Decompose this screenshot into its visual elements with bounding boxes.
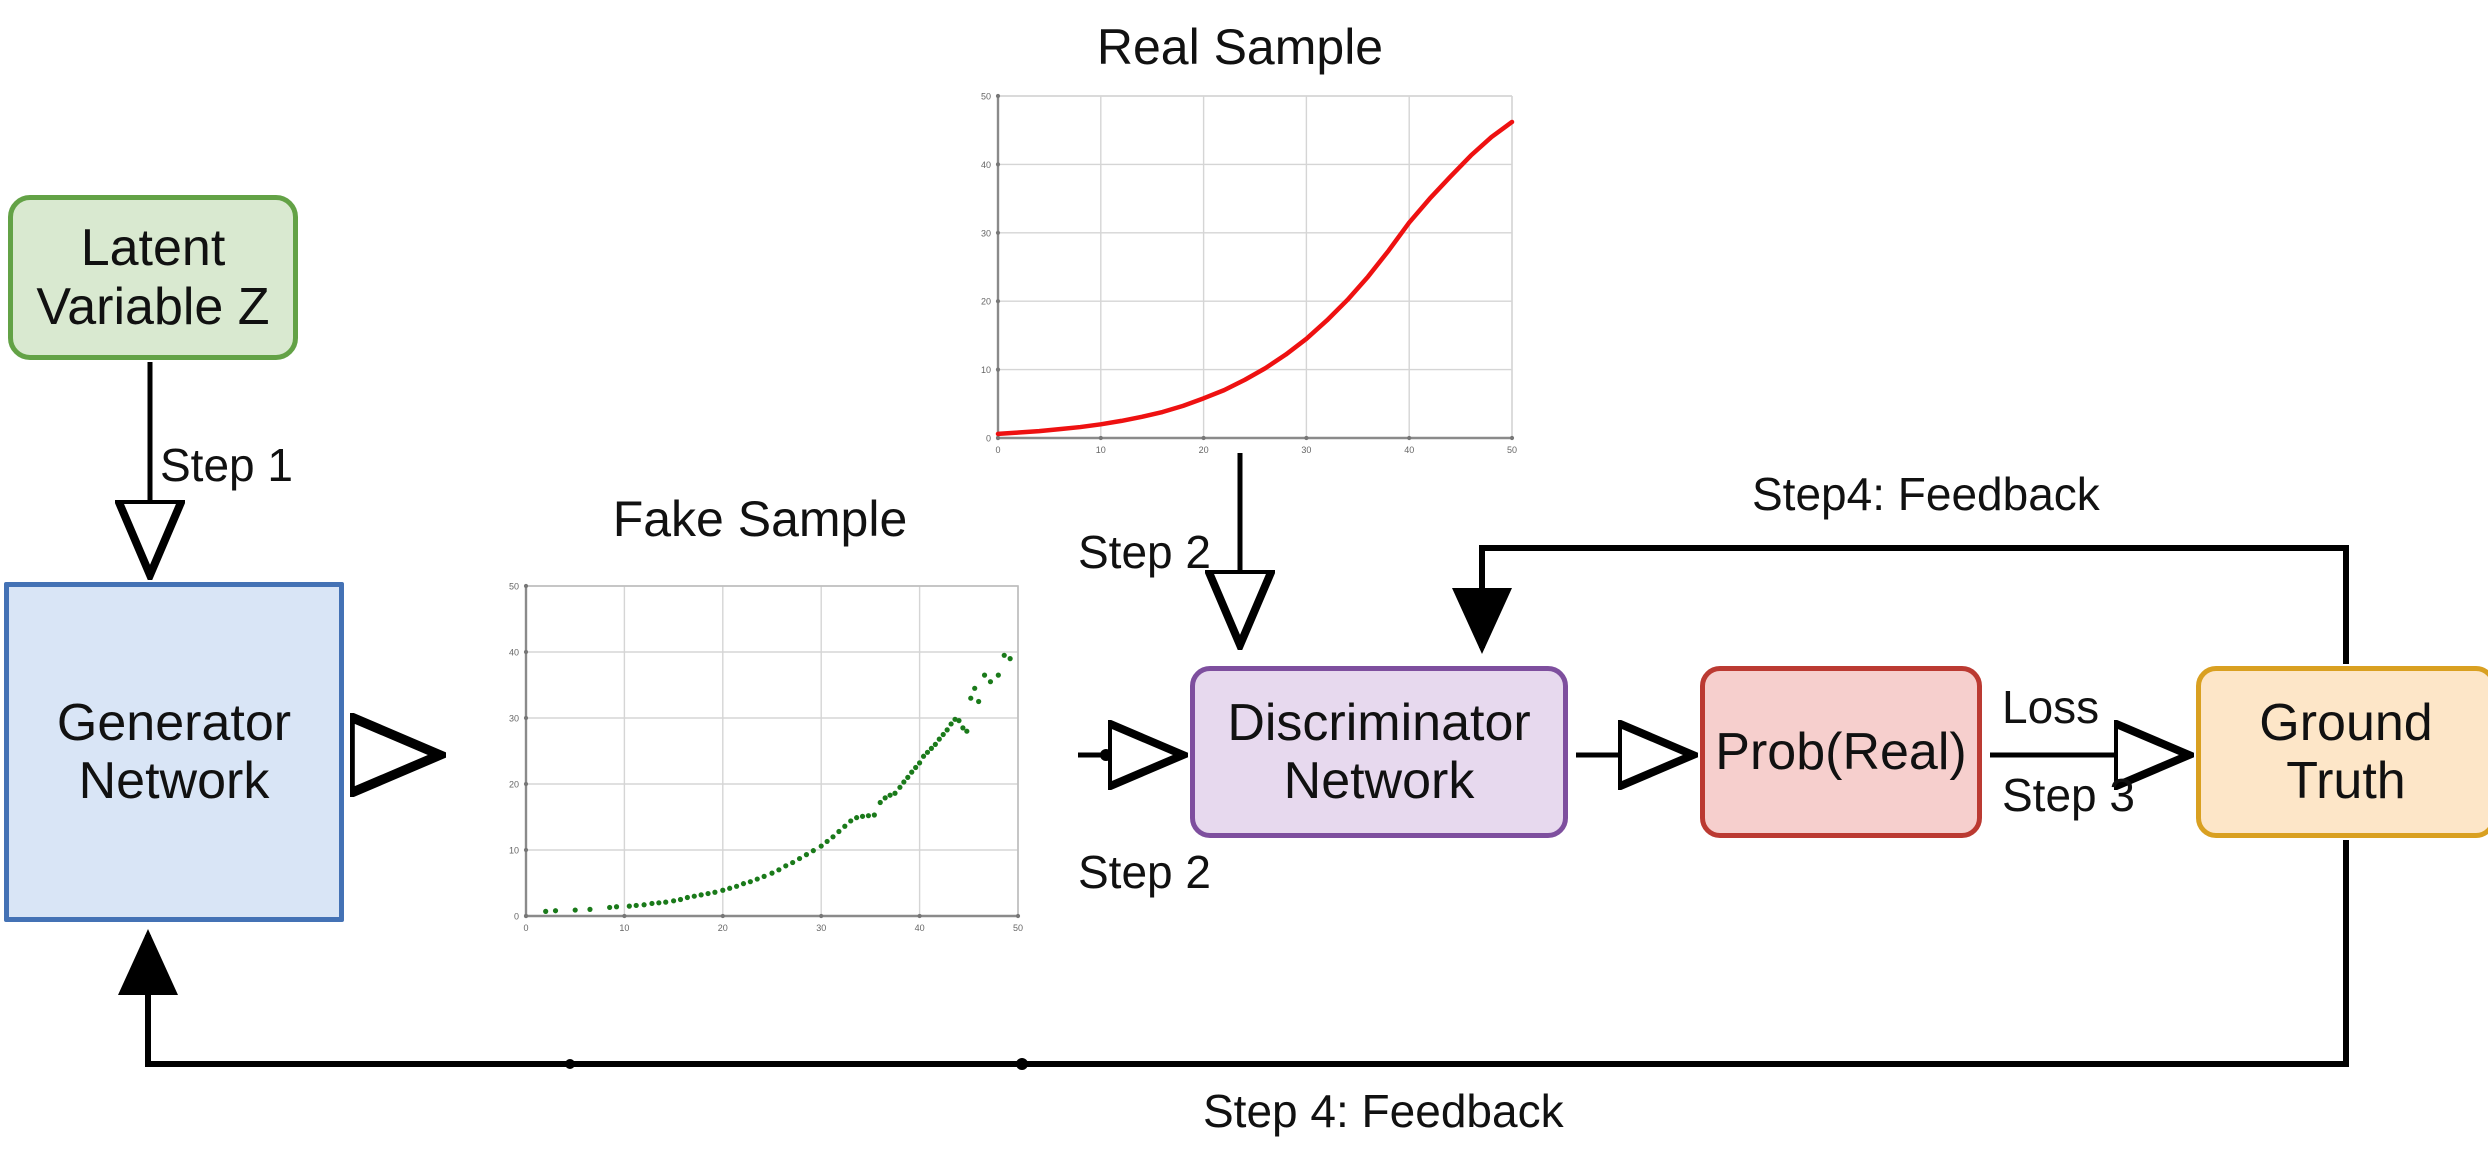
node-ground-truth-line1: Ground: [2259, 694, 2432, 752]
svg-text:10: 10: [509, 846, 519, 856]
svg-text:50: 50: [1507, 445, 1517, 455]
chart-real-sample: 0102030405001020304050: [968, 88, 1518, 468]
svg-text:50: 50: [1013, 923, 1023, 933]
node-prob-real[interactable]: Prob(Real): [1700, 666, 1982, 838]
svg-text:20: 20: [509, 780, 519, 790]
edge-label-step3: Step 3: [2002, 768, 2135, 822]
node-prob-label: Prob(Real): [1715, 723, 1966, 781]
svg-text:20: 20: [718, 923, 728, 933]
svg-text:30: 30: [509, 714, 519, 724]
edge-feedback-top: [1482, 548, 2346, 664]
chart-title-real-sample: Real Sample: [960, 18, 1520, 76]
svg-text:10: 10: [619, 923, 629, 933]
node-discriminator-line2: Network: [1227, 752, 1530, 810]
node-latent-line2: Variable Z: [36, 278, 269, 336]
svg-text:0: 0: [995, 445, 1000, 455]
svg-text:40: 40: [915, 923, 925, 933]
svg-text:0: 0: [986, 434, 991, 444]
svg-text:50: 50: [981, 92, 991, 102]
svg-text:30: 30: [816, 923, 826, 933]
svg-text:0: 0: [523, 923, 528, 933]
edge-label-step1: Step 1: [160, 438, 293, 492]
edge-label-step2-bottom: Step 2: [1078, 845, 1211, 899]
edge-label-step2-top: Step 2: [1078, 525, 1211, 579]
node-generator-line1: Generator: [57, 694, 291, 752]
svg-text:10: 10: [1096, 445, 1106, 455]
svg-text:20: 20: [1199, 445, 1209, 455]
edge-label-step4-bottom: Step 4: Feedback: [1203, 1084, 1564, 1138]
node-discriminator-line1: Discriminator: [1227, 694, 1530, 752]
svg-text:40: 40: [981, 160, 991, 170]
svg-text:40: 40: [1404, 445, 1414, 455]
node-generator-network[interactable]: Generator Network: [4, 582, 344, 922]
svg-text:30: 30: [981, 228, 991, 238]
svg-text:0: 0: [514, 912, 519, 922]
svg-text:10: 10: [981, 365, 991, 375]
chart-fake-sample: 0102030405001020304050: [496, 578, 1024, 946]
svg-text:50: 50: [509, 582, 519, 592]
node-ground-truth-line2: Truth: [2259, 752, 2432, 810]
node-generator-line2: Network: [57, 752, 291, 810]
edge-label-loss: Loss: [2002, 680, 2099, 734]
node-latent-variable[interactable]: Latent Variable Z: [8, 195, 298, 360]
node-discriminator-network[interactable]: Discriminator Network: [1190, 666, 1568, 838]
edge-label-step4-top: Step4: Feedback: [1752, 467, 2100, 521]
svg-text:20: 20: [981, 297, 991, 307]
svg-text:40: 40: [509, 648, 519, 658]
chart-title-fake-sample: Fake Sample: [500, 490, 1020, 548]
diagram-canvas: Latent Variable Z Generator Network Disc…: [0, 0, 2488, 1154]
edge-feedback-bottom: [148, 840, 2346, 1064]
node-latent-line1: Latent: [36, 219, 269, 277]
node-ground-truth[interactable]: Ground Truth: [2196, 666, 2488, 838]
svg-text:30: 30: [1301, 445, 1311, 455]
